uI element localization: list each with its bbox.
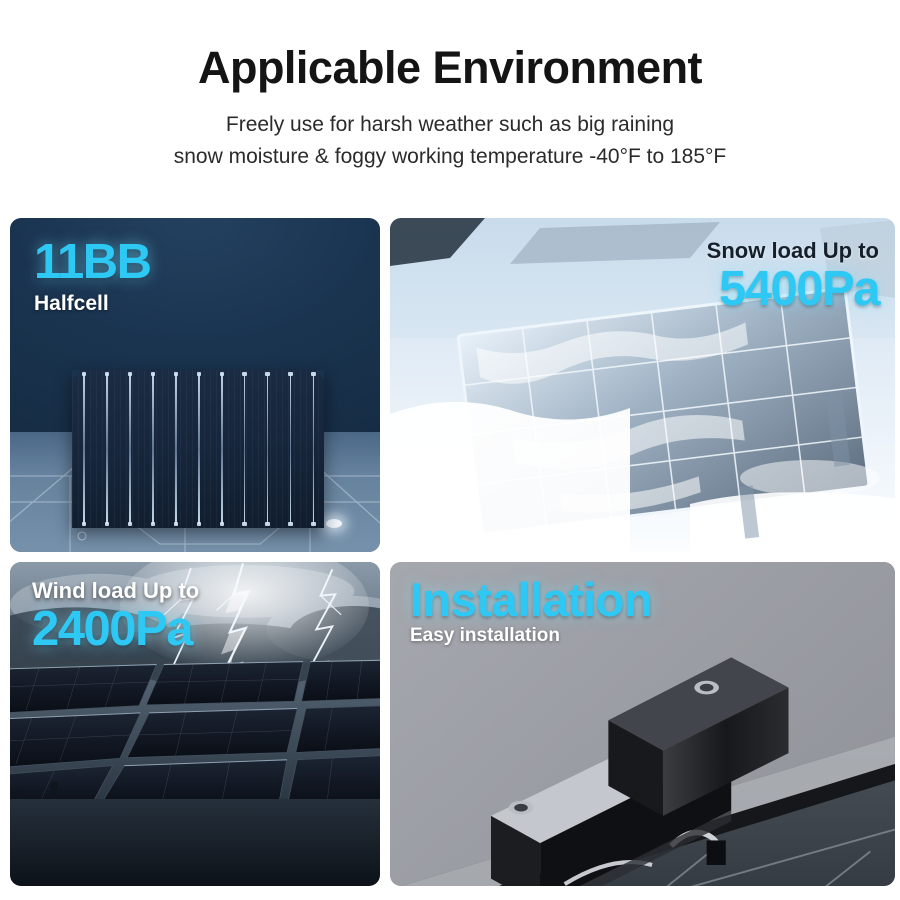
halfcell-overlay-text: 11BB Halfcell: [34, 238, 151, 316]
panel-halfcell[interactable]: 11BB Halfcell: [10, 218, 380, 552]
installation-headline: Installation: [410, 576, 652, 623]
busbar-line: [244, 374, 246, 524]
panel-installation[interactable]: Installation Easy installation: [390, 562, 895, 886]
light-glow-dot: [326, 519, 342, 528]
snow-load-label: Snow load Up to: [707, 238, 879, 264]
feature-panel-grid: 11BB Halfcell: [10, 218, 890, 886]
busbar-line: [313, 374, 315, 524]
halfcell-subline: Halfcell: [34, 292, 151, 316]
subtitle-block: Freely use for harsh weather such as big…: [0, 109, 900, 173]
wind-overlay-text: Wind load Up to 2400Pa: [32, 578, 199, 654]
busbar-line: [290, 374, 292, 524]
busbar-line: [267, 374, 269, 524]
subtitle-line-1: Freely use for harsh weather such as big…: [0, 109, 900, 141]
wind-load-value: 2400Pa: [32, 605, 199, 654]
panel-snow-load[interactable]: Snow load Up to 5400Pa: [390, 218, 895, 552]
busbar-line: [175, 374, 177, 524]
busbar-group: [72, 370, 324, 528]
page-title: Applicable Environment: [0, 44, 900, 93]
panel-wind-load[interactable]: Wind load Up to 2400Pa: [10, 562, 380, 886]
installation-overlay-text: Installation Easy installation: [410, 576, 652, 647]
subtitle-line-2: snow moisture & foggy working temperatur…: [0, 141, 900, 173]
installation-subline: Easy installation: [410, 625, 652, 647]
snow-overlay-text: Snow load Up to 5400Pa: [707, 238, 879, 314]
busbar-line: [152, 374, 154, 524]
solar-half-cell-image: [72, 370, 324, 528]
busbar-line: [221, 374, 223, 524]
busbar-line: [83, 374, 85, 524]
busbar-line: [198, 374, 200, 524]
wind-load-label: Wind load Up to: [32, 578, 199, 604]
snow-load-value: 5400Pa: [707, 265, 879, 314]
busbar-line: [129, 374, 131, 524]
busbar-line: [106, 374, 108, 524]
page-header: Applicable Environment Freely use for ha…: [0, 0, 900, 172]
halfcell-headline: 11BB: [34, 238, 151, 287]
